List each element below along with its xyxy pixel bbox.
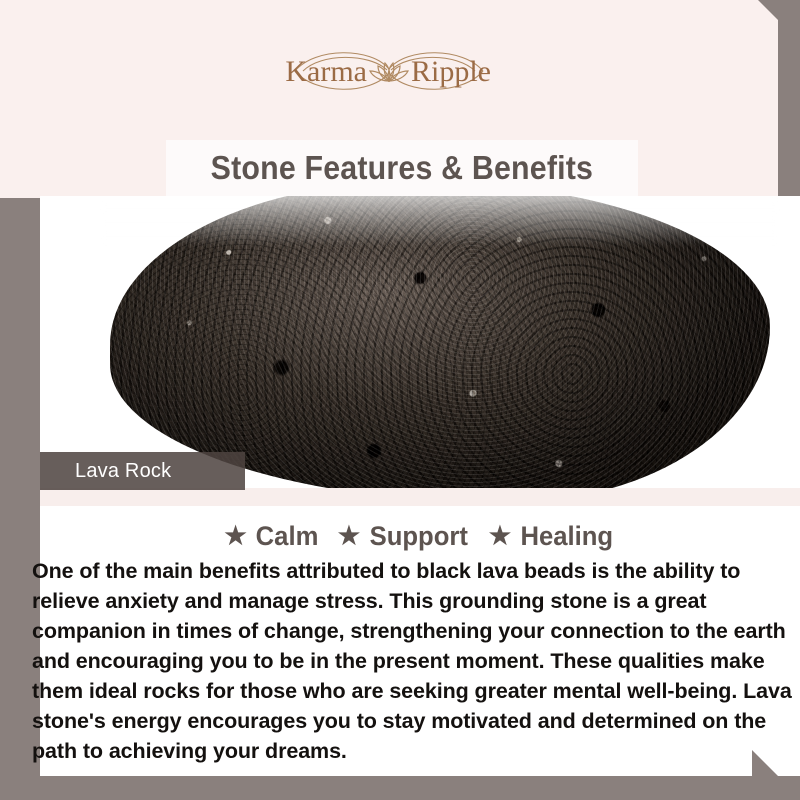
benefit-item-support: ★ Support	[338, 521, 471, 552]
header-corner-notch	[758, 0, 778, 20]
star-icon: ★	[224, 524, 246, 549]
brand-logo: Karma Ripple	[0, 36, 778, 106]
photo-top-fade	[100, 196, 780, 246]
star-icon: ★	[489, 524, 511, 549]
infographic-canvas: Karma Ripple Stone Features & Benefits L…	[0, 0, 800, 800]
brand-name-right: Ripple	[411, 55, 491, 88]
benefit-item-calm: ★ Calm	[224, 521, 319, 552]
star-icon: ★	[338, 524, 360, 549]
page-title-band: Stone Features & Benefits	[166, 140, 638, 196]
benefits-row: ★ Calm ★ Support ★ Healing	[40, 516, 800, 556]
description-block: One of the main benefits attributed to b…	[32, 556, 798, 766]
photo-caption-label: Lava Rock	[40, 460, 171, 483]
page-title: Stone Features & Benefits	[211, 149, 594, 187]
brand-logo-svg: Karma Ripple	[259, 39, 519, 103]
lava-rock-photo	[40, 196, 800, 488]
accent-strip	[40, 488, 800, 506]
lotus-icon	[370, 63, 408, 81]
benefit-label: Healing	[521, 521, 614, 552]
frame-border-bottom	[0, 776, 800, 800]
benefit-label: Calm	[255, 521, 318, 552]
photo-caption-bar: Lava Rock	[40, 452, 245, 490]
benefit-item-healing: ★ Healing	[489, 521, 616, 552]
benefit-label: Support	[370, 521, 468, 552]
description-text: One of the main benefits attributed to b…	[32, 556, 798, 766]
brand-name-left: Karma	[285, 55, 367, 88]
